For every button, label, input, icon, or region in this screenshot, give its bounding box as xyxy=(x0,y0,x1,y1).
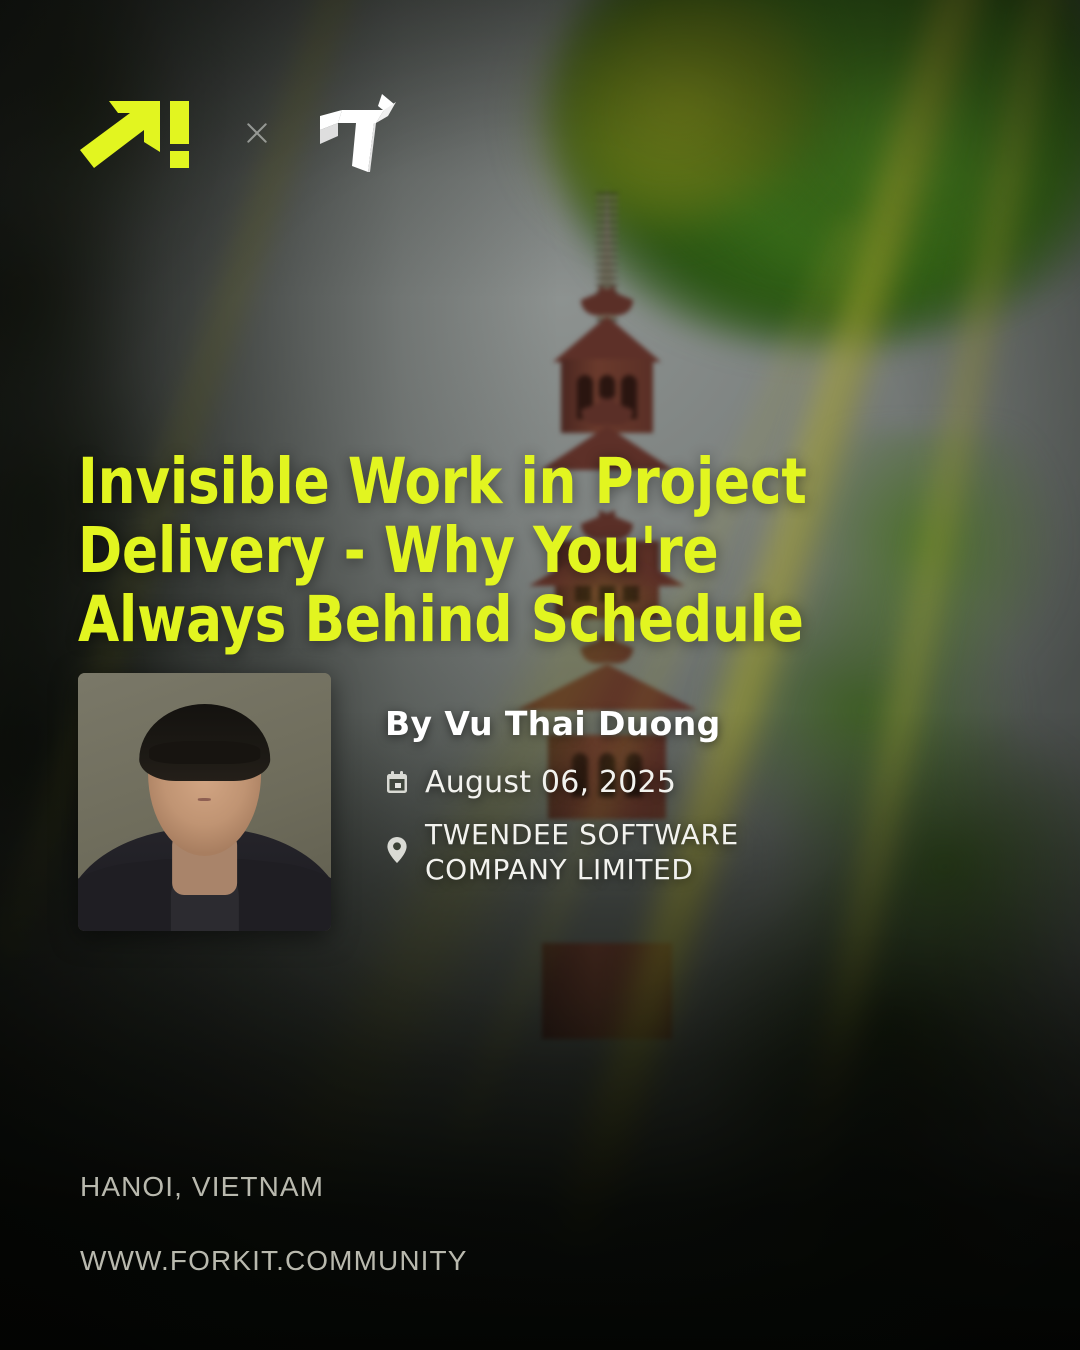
event-poster: Invisible Work in Project Delivery - Why… xyxy=(0,0,1080,1350)
logo-row xyxy=(78,92,404,174)
author-byline: By Vu Thai Duong xyxy=(385,704,985,743)
footer: HANOI, VIETNAM WWW.FORKIT.COMMUNITY xyxy=(80,1171,468,1277)
event-date: August 06, 2025 xyxy=(425,765,676,801)
page-title: Invisible Work in Project Delivery - Why… xyxy=(78,447,858,654)
map-pin-icon xyxy=(385,817,409,883)
calendar-icon xyxy=(385,765,409,795)
author-meta: By Vu Thai Duong August 06, 2025 xyxy=(385,704,985,903)
organization-name: TWENDEE SOFTWARE COMPANY LIMITED xyxy=(425,817,739,887)
footer-website[interactable]: WWW.FORKIT.COMMUNITY xyxy=(80,1245,468,1277)
avatar-mouth xyxy=(198,798,211,800)
twendee-isometric-t-logo xyxy=(318,92,404,174)
close-icon xyxy=(244,120,270,146)
footer-location: HANOI, VIETNAM xyxy=(80,1171,468,1203)
date-row: August 06, 2025 xyxy=(385,765,985,801)
organization-row: TWENDEE SOFTWARE COMPANY LIMITED xyxy=(385,817,985,887)
poster-content: Invisible Work in Project Delivery - Why… xyxy=(0,0,1080,1350)
avatar xyxy=(78,673,331,931)
forkit-arrow-exclamation-logo xyxy=(78,94,196,172)
